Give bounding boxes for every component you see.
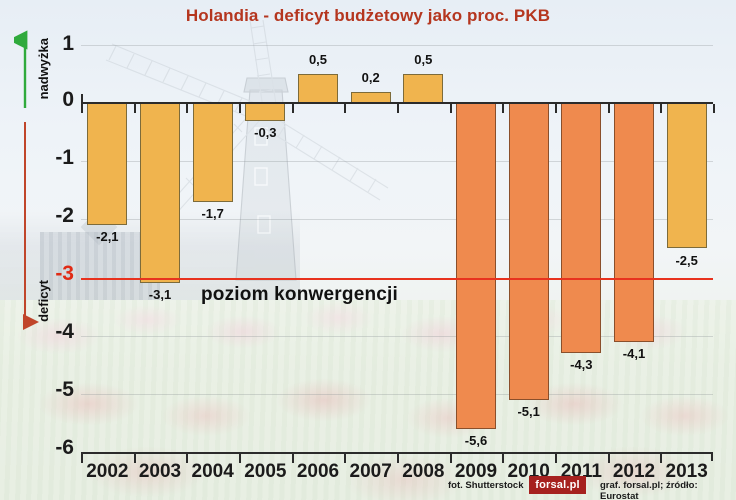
zero-axis-tick bbox=[608, 104, 610, 113]
bar-2005[interactable] bbox=[245, 103, 285, 120]
bar-value-label-2004: -1,7 bbox=[183, 206, 243, 221]
zero-axis-left-cap bbox=[81, 94, 83, 103]
bar-2009[interactable] bbox=[456, 103, 496, 429]
source-credit: graf. forsal.pl; źródło: Eurostat bbox=[600, 480, 736, 500]
x-axis-endcap bbox=[711, 452, 713, 461]
bar-value-label-2002: -2,1 bbox=[77, 229, 137, 244]
chart-container: Holandia - deficyt budżetowy jako proc. … bbox=[0, 0, 736, 500]
bar-value-label-2003: -3,1 bbox=[130, 287, 190, 302]
zero-axis-tick bbox=[397, 104, 399, 113]
zero-axis-tick bbox=[344, 104, 346, 113]
bar-2004[interactable] bbox=[193, 103, 233, 202]
page-title: Holandia - deficyt budżetowy jako proc. … bbox=[0, 6, 736, 26]
zero-axis-tick bbox=[292, 104, 294, 113]
bar-2003[interactable] bbox=[140, 103, 180, 283]
y-tick-label-m6: -6 bbox=[55, 436, 74, 460]
zero-axis-tick bbox=[81, 104, 83, 113]
zero-axis-tick bbox=[660, 104, 662, 113]
forsal-logo[interactable]: forsal.pl bbox=[529, 476, 586, 494]
y-tick-label-m5: -5 bbox=[55, 378, 74, 402]
credits-bar: fot. Shutterstock forsal.pl graf. forsal… bbox=[0, 474, 736, 500]
plot-area: -2,1-3,1-1,7-0,30,50,20,5-5,6-5,1-4,3-4,… bbox=[81, 45, 713, 452]
zero-axis-tick bbox=[502, 104, 504, 113]
bar-value-label-2007: 0,2 bbox=[341, 70, 401, 85]
bar-value-label-2006: 0,5 bbox=[288, 52, 348, 67]
x-axis-endcap bbox=[81, 452, 83, 461]
zero-axis-tick bbox=[450, 104, 452, 113]
gridline bbox=[81, 45, 713, 46]
bar-2008[interactable] bbox=[403, 74, 443, 103]
deficit-label: deficyt bbox=[36, 280, 51, 322]
bar-2013[interactable] bbox=[667, 103, 707, 248]
zero-axis-tick bbox=[555, 104, 557, 113]
bar-2011[interactable] bbox=[561, 103, 601, 353]
zero-axis-tick bbox=[239, 104, 241, 113]
bar-2002[interactable] bbox=[87, 103, 127, 225]
convergence-label: poziom konwergencji bbox=[201, 284, 398, 306]
bar-value-label-2013: -2,5 bbox=[657, 253, 717, 268]
bar-value-label-2012: -4,1 bbox=[604, 346, 664, 361]
bar-2012[interactable] bbox=[614, 103, 654, 341]
surplus-label: nadwyżka bbox=[36, 38, 51, 99]
bar-value-label-2011: -4,3 bbox=[551, 357, 611, 372]
bar-value-label-2005: -0,3 bbox=[235, 125, 295, 140]
zero-axis-tick bbox=[134, 104, 136, 113]
bar-value-label-2010: -5,1 bbox=[499, 404, 559, 419]
bar-value-label-2009: -5,6 bbox=[446, 433, 506, 448]
convergence-line bbox=[81, 278, 713, 280]
zero-axis-tick bbox=[186, 104, 188, 113]
photo-credit: fot. Shutterstock bbox=[448, 480, 523, 491]
bar-2010[interactable] bbox=[509, 103, 549, 400]
gridline bbox=[81, 394, 713, 395]
bar-value-label-2008: 0,5 bbox=[393, 52, 453, 67]
bar-2006[interactable] bbox=[298, 74, 338, 103]
zero-axis-tick bbox=[713, 104, 715, 113]
surplus-deficit-axis: nadwyżka deficyt bbox=[14, 30, 70, 360]
